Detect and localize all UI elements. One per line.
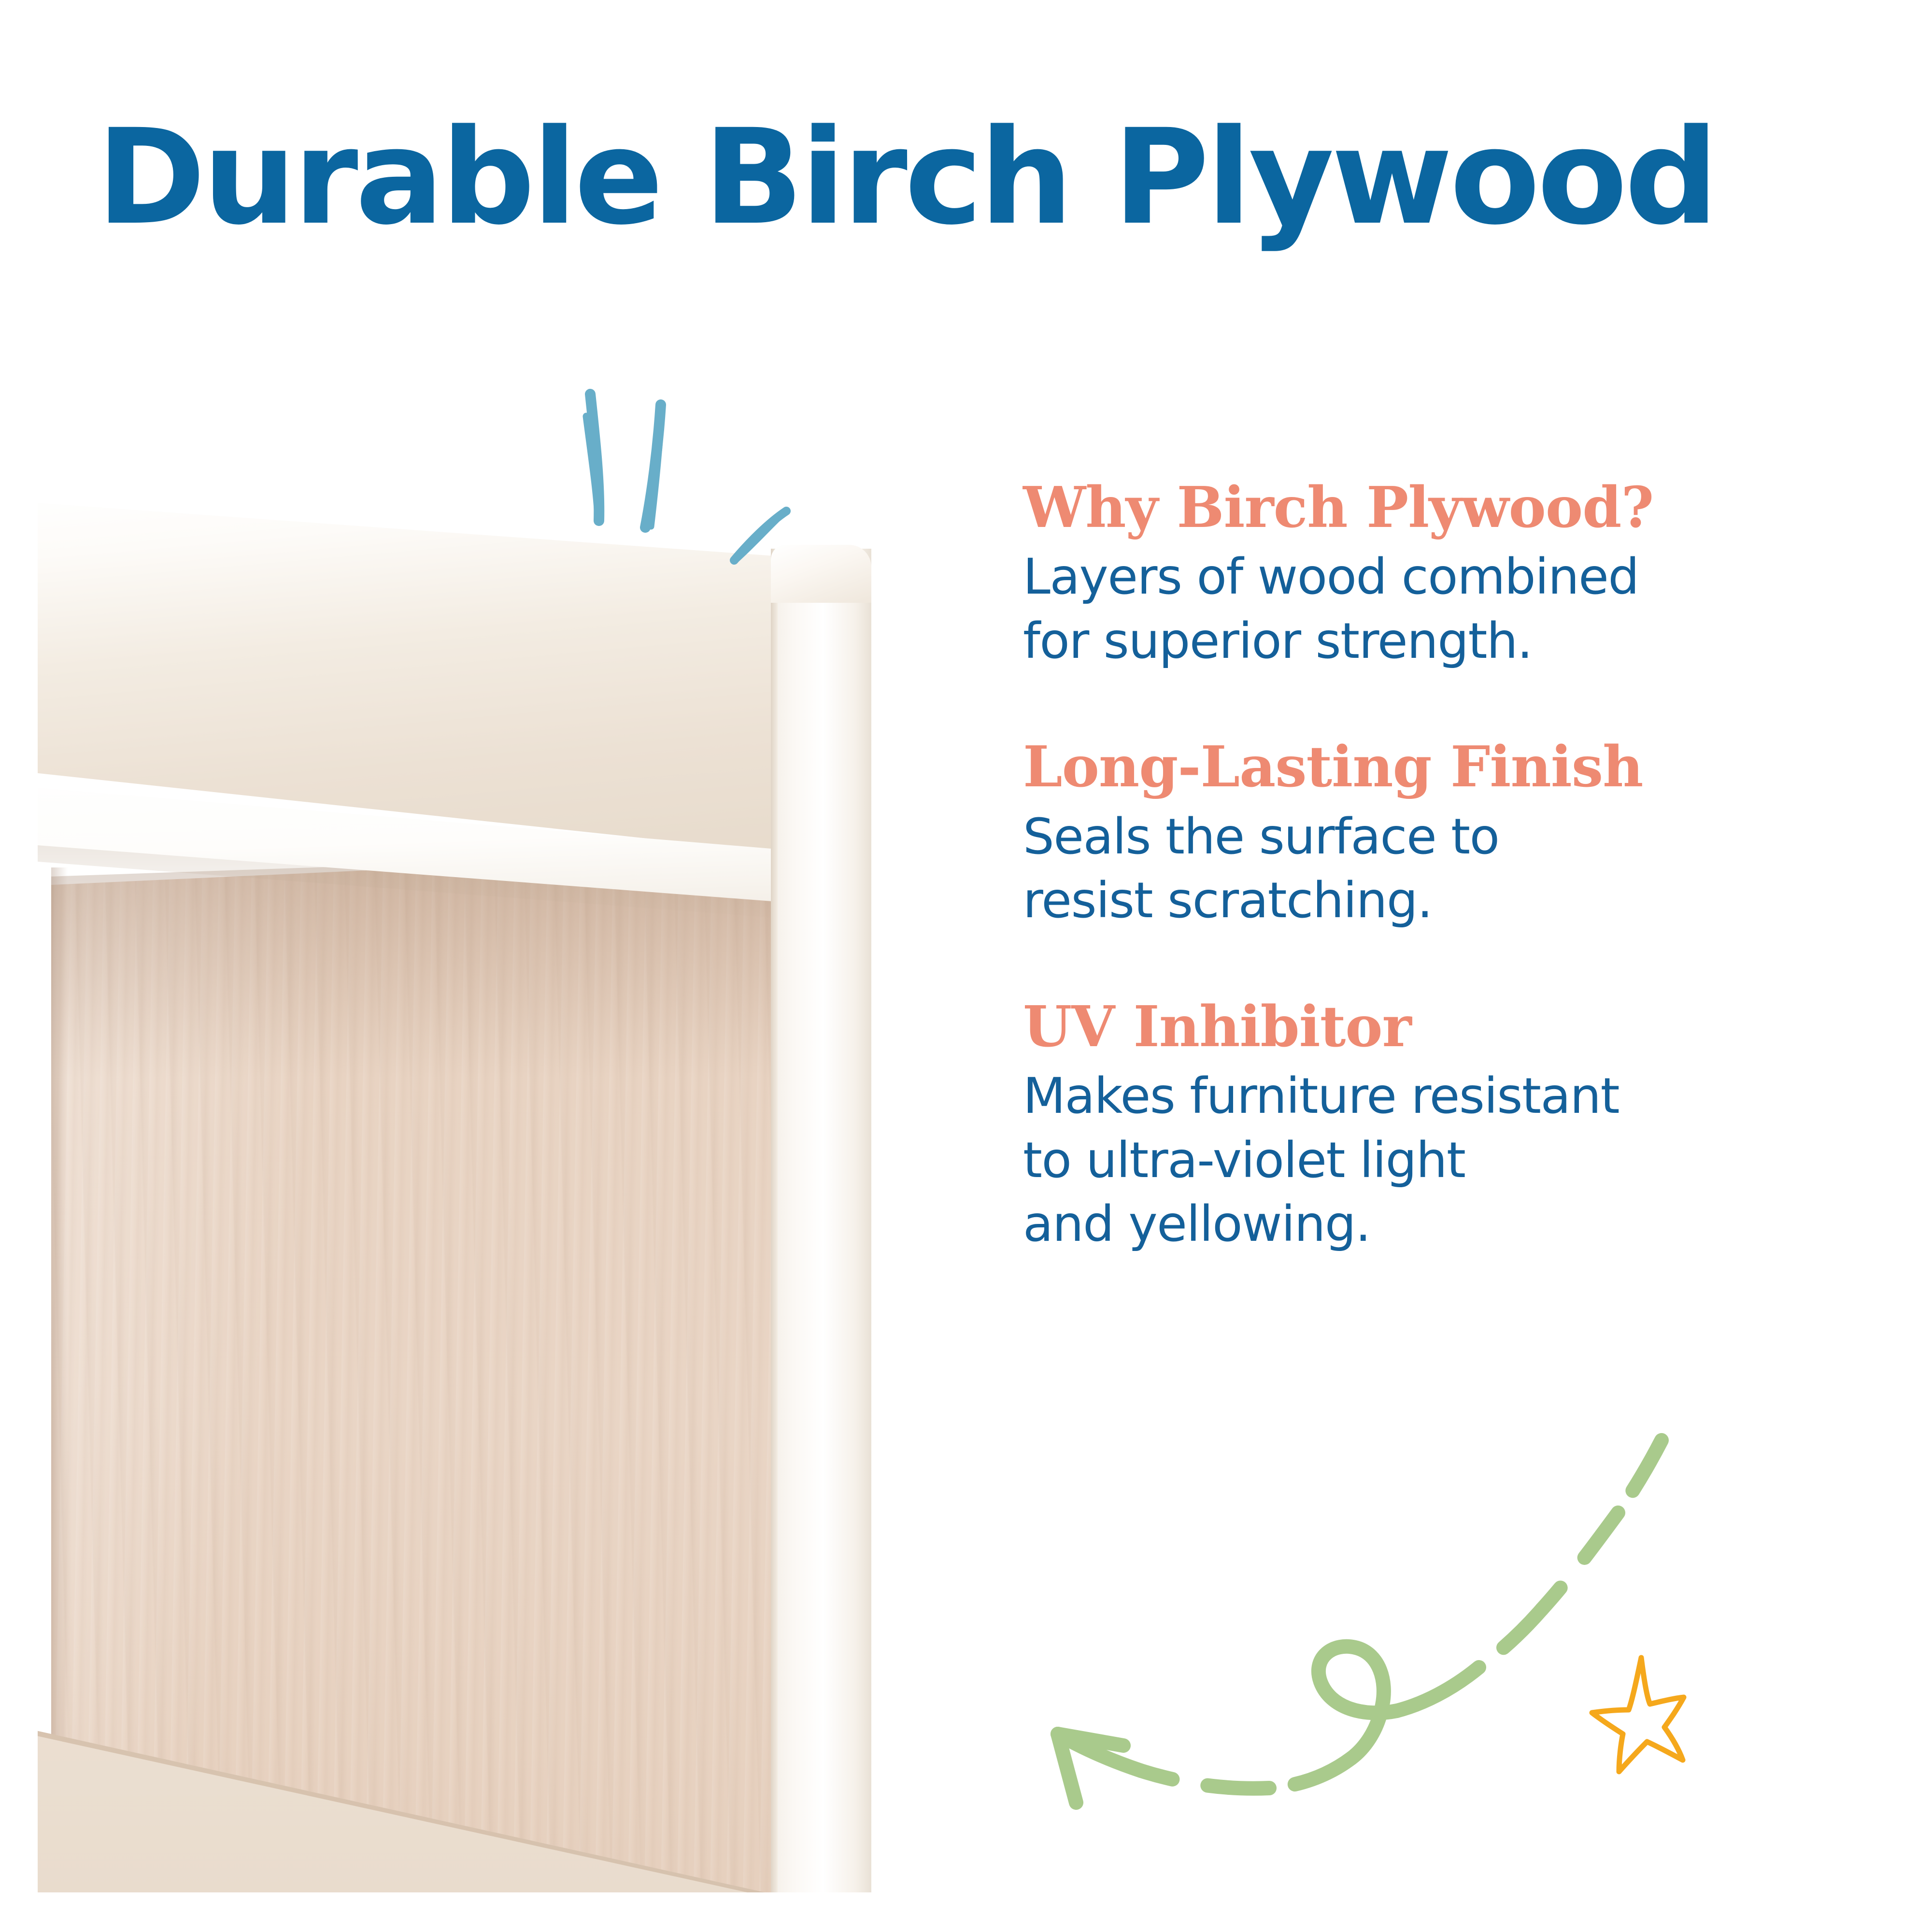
feature-heading: UV Inhibitor xyxy=(1023,995,1873,1059)
feature-body-line: Makes furniture resistant xyxy=(1023,1065,1873,1129)
feature-body-line: and yellowing. xyxy=(1023,1193,1873,1257)
cabinet-side-panel xyxy=(771,549,871,1892)
feature-item-long-lasting-finish: Long-Lasting Finish Seals the surface to… xyxy=(1023,735,1873,933)
feature-item-why-birch-plywood: Why Birch Plywood? Layers of wood combin… xyxy=(1023,476,1873,673)
feature-body-line: Seals the surface to xyxy=(1023,805,1873,869)
title-bar: Durable Birch Plywood xyxy=(0,0,1932,299)
hand-drawn-star-icon xyxy=(1584,1647,1724,1787)
product-photo xyxy=(38,487,871,1892)
feature-body-line: for superior strength. xyxy=(1023,610,1873,674)
feature-body-line: to ultra-violet light xyxy=(1023,1129,1873,1193)
feature-heading: Long-Lasting Finish xyxy=(1023,735,1873,799)
feature-body-line: resist scratching. xyxy=(1023,869,1873,933)
sparkle-strokes-icon xyxy=(570,382,927,589)
feature-body-line: Layers of wood combined xyxy=(1023,545,1873,610)
feature-list: Why Birch Plywood? Layers of wood combin… xyxy=(1023,476,1873,1257)
page-title: Durable Birch Plywood xyxy=(97,112,1716,243)
feature-heading: Why Birch Plywood? xyxy=(1023,476,1873,540)
feature-item-uv-inhibitor: UV Inhibitor Makes furniture resistant t… xyxy=(1023,995,1873,1257)
